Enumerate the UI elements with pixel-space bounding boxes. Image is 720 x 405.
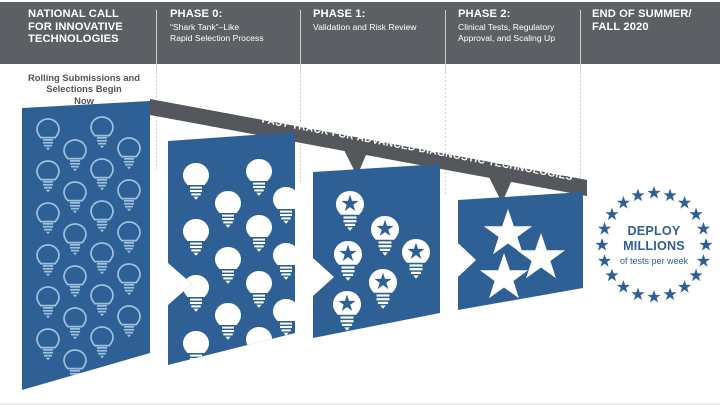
deploy-badge: DEPLOY MILLIONS of tests per week — [595, 186, 713, 304]
badge-line-3: of tests per week — [620, 255, 688, 267]
funnel-stage-2 — [168, 132, 299, 368]
badge-line-2: MILLIONS — [623, 239, 685, 254]
funnel-stage-4 — [458, 192, 583, 310]
funnel-stage-3 — [313, 164, 440, 338]
funnel-stage-1 — [22, 101, 150, 390]
badge-line-1: DEPLOY — [628, 224, 681, 239]
infographic-canvas: NATIONAL CALL FOR INNOVATIVE TECHNOLOGIE… — [0, 0, 720, 405]
